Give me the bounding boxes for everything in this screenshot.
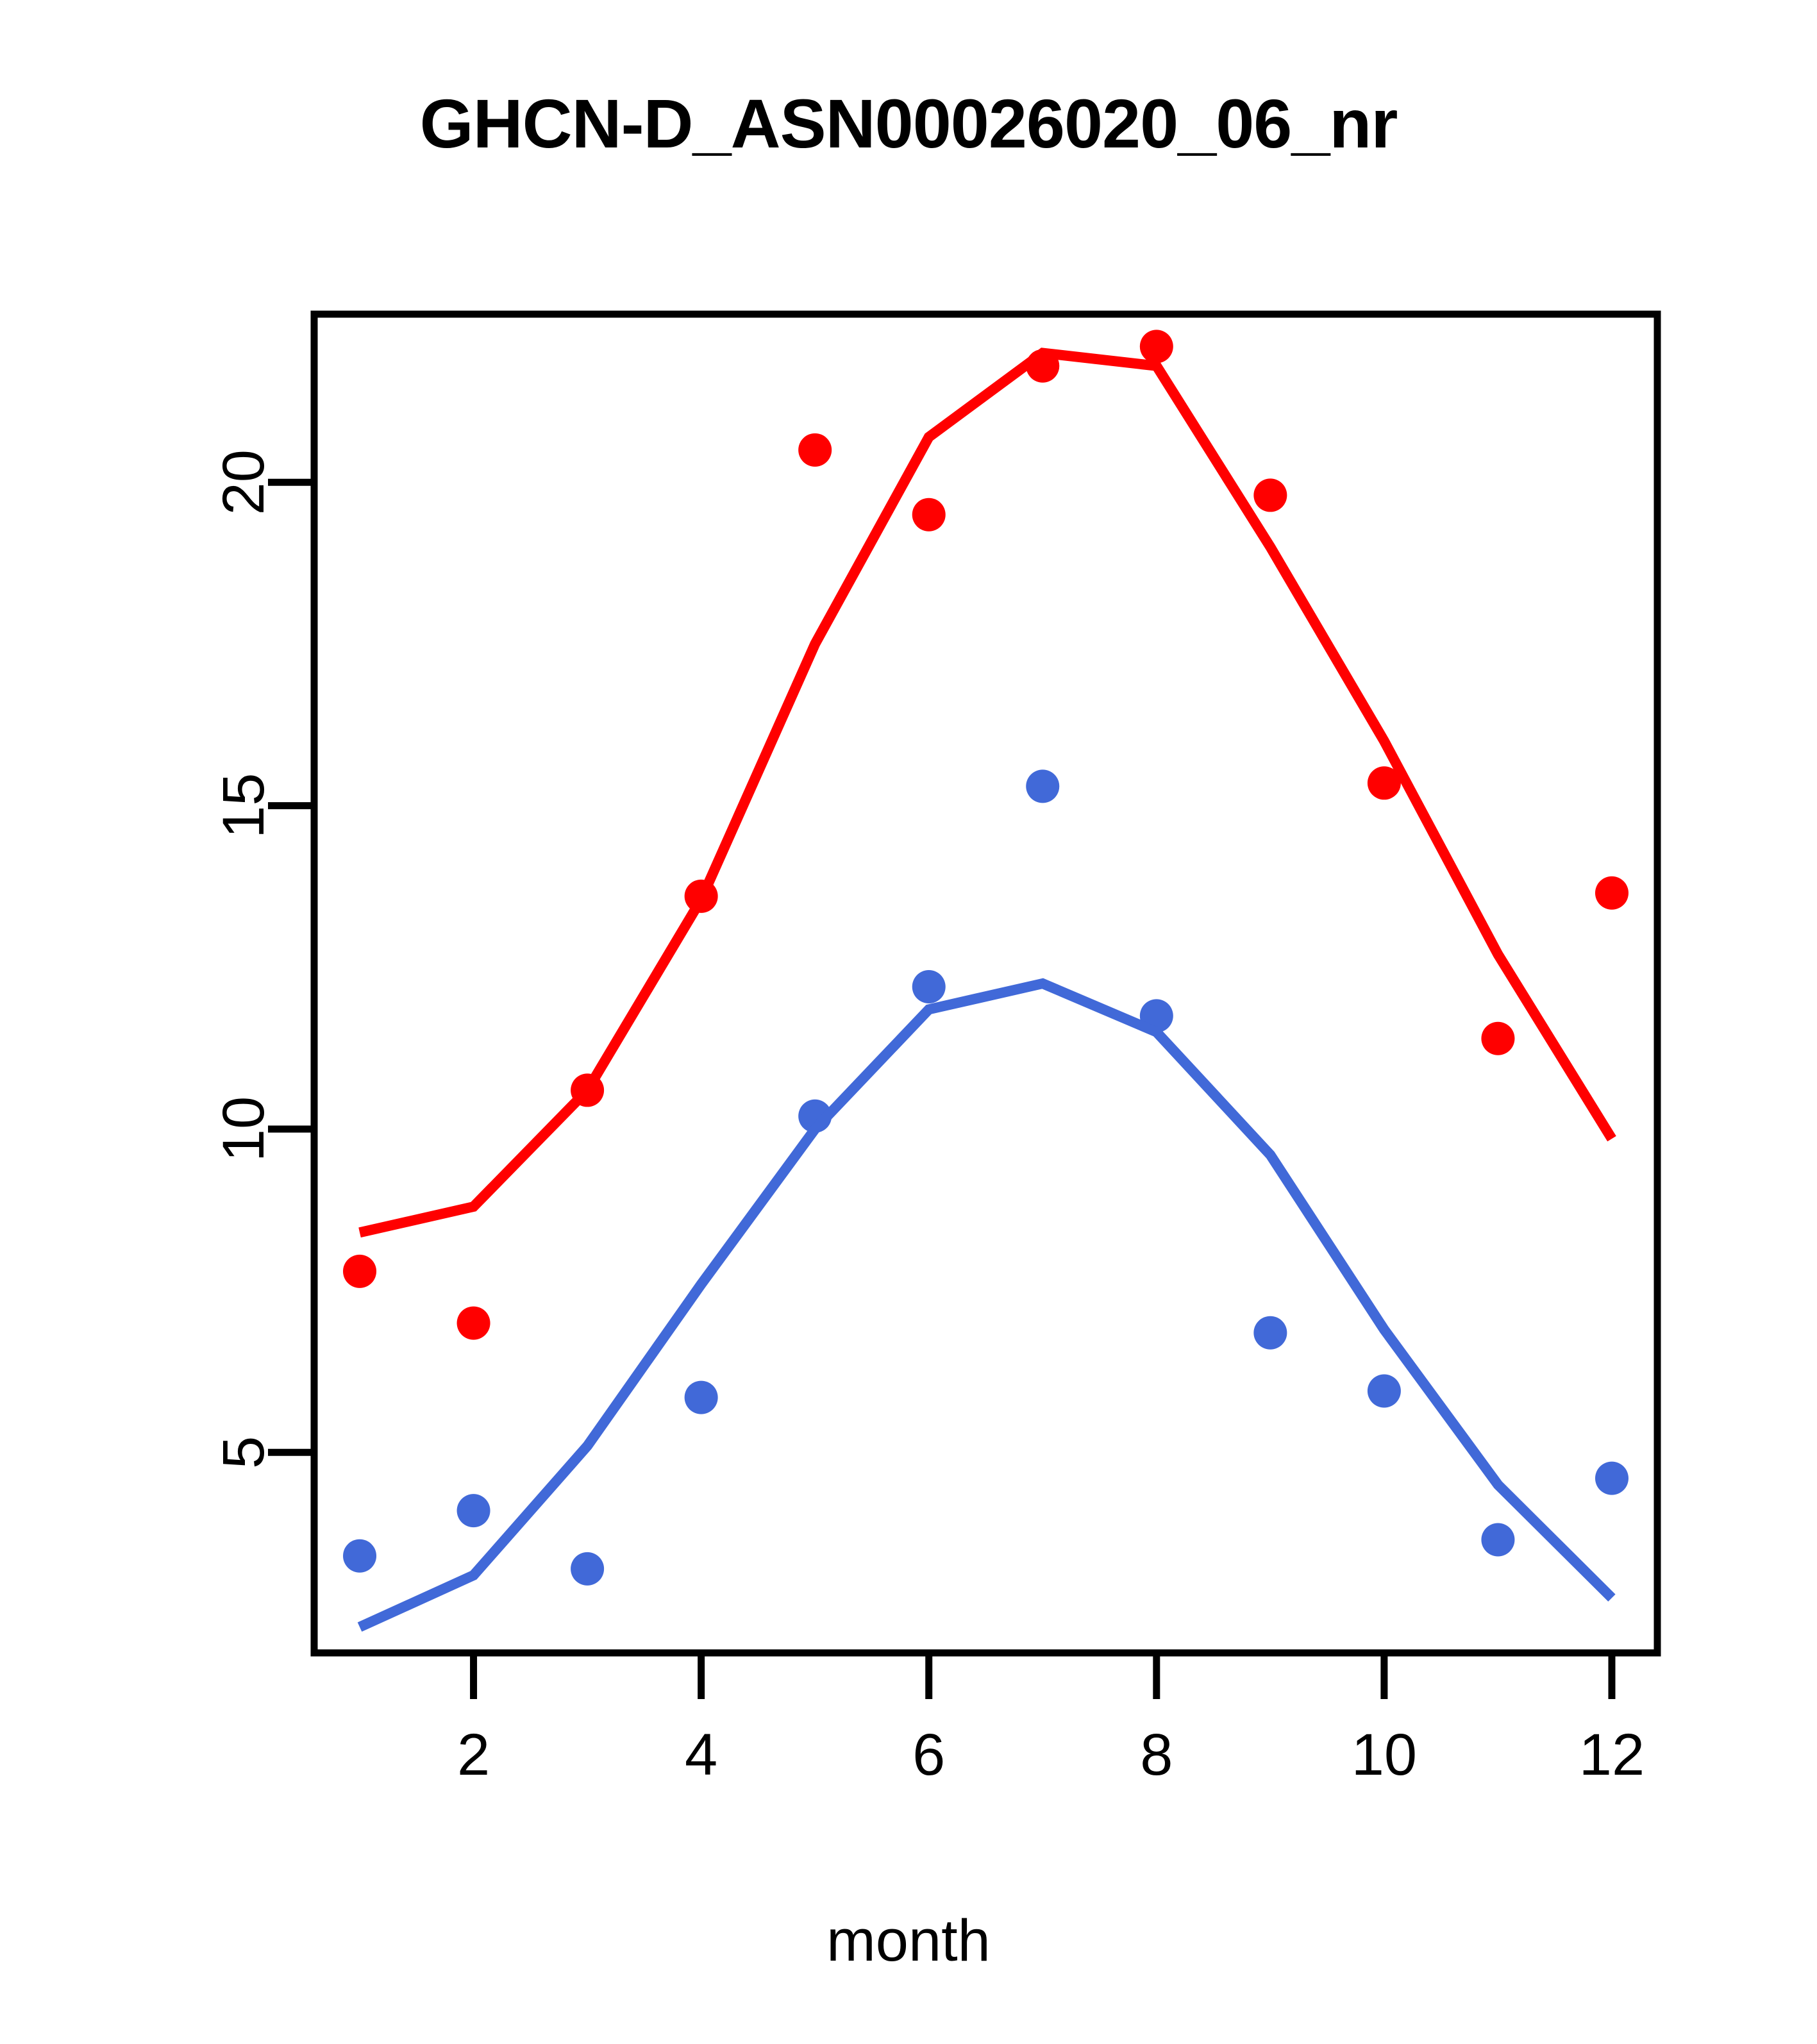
y-axis-tick-label: 20 — [211, 449, 276, 515]
plot-root: 510152024681012 — [211, 314, 1657, 1788]
data-point — [1253, 478, 1287, 512]
x-axis-tick-label: 12 — [1579, 1722, 1645, 1788]
x-axis-tick-label: 10 — [1352, 1722, 1417, 1788]
plot-frame — [314, 314, 1657, 1653]
data-point — [1595, 876, 1629, 910]
plot-canvas: 510152024681012 — [0, 0, 1817, 2044]
data-point — [1253, 1316, 1287, 1350]
y-axis-tick-label: 15 — [211, 773, 276, 838]
data-point — [1368, 1374, 1401, 1407]
data-point — [457, 1494, 490, 1527]
data-point — [1481, 1022, 1514, 1055]
x-axis-tick-label: 2 — [457, 1722, 490, 1788]
data-point — [798, 433, 832, 467]
x-axis-label: month — [0, 1907, 1817, 1975]
x-axis-tick-label: 6 — [912, 1722, 945, 1788]
data-point — [912, 970, 946, 1003]
data-point — [343, 1539, 376, 1573]
series-points-blue-points — [343, 769, 1629, 1586]
data-point — [912, 498, 946, 532]
x-axis-tick-label: 4 — [685, 1722, 717, 1788]
x-axis-tick-label: 8 — [1140, 1722, 1173, 1788]
y-axis-tick-label: 10 — [211, 1096, 276, 1162]
series-line-blue-line — [360, 984, 1612, 1627]
data-point — [571, 1552, 604, 1586]
data-point — [457, 1307, 490, 1340]
data-point — [343, 1255, 376, 1288]
data-point — [1026, 769, 1059, 803]
y-axis-tick-label: 5 — [211, 1436, 276, 1469]
chart-page: GHCN-D_ASN00026020_06_nr 510152024681012… — [0, 0, 1817, 2044]
data-point — [1481, 1523, 1514, 1556]
series-line-red-line — [360, 353, 1612, 1233]
data-point — [1595, 1462, 1629, 1495]
data-point — [1140, 330, 1173, 363]
data-point — [685, 1381, 718, 1414]
